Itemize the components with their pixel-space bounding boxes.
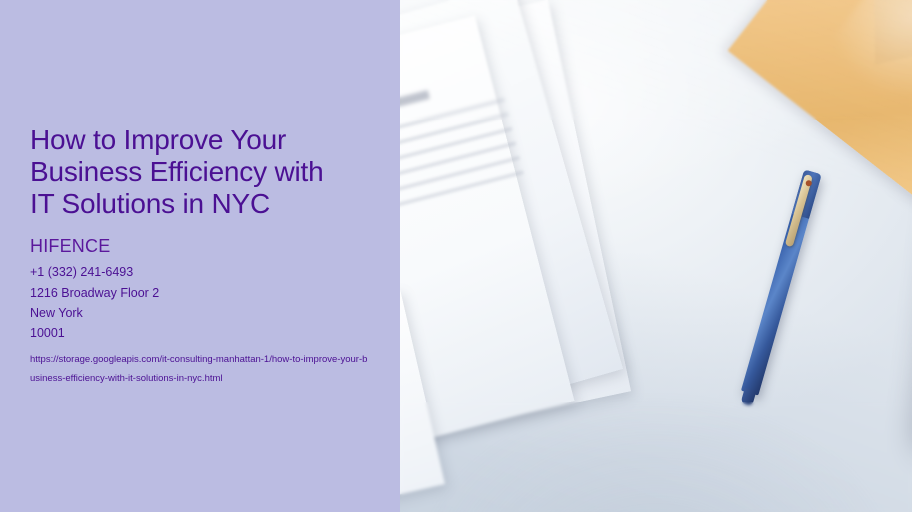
contact-phone[interactable]: +1 (332) 241-6493 bbox=[30, 262, 370, 282]
source-url-link[interactable]: https://storage.googleapis.com/it-consul… bbox=[30, 350, 370, 388]
page-title: How to Improve Your Business Efficiency … bbox=[30, 124, 350, 221]
blue-pen bbox=[741, 170, 822, 396]
pen-tip bbox=[741, 388, 757, 407]
contact-city: New York bbox=[30, 303, 370, 323]
text-panel: How to Improve Your Business Efficiency … bbox=[0, 0, 400, 512]
brand-name: HIFENCE bbox=[30, 236, 370, 257]
doc-line bbox=[400, 98, 505, 148]
article-preview-card: How to Improve Your Business Efficiency … bbox=[0, 0, 912, 512]
doc-line bbox=[400, 171, 524, 221]
contact-zip: 10001 bbox=[30, 323, 370, 343]
hero-photo: NSTRMENT 1 Ennaslostiorea 1 readors' sow… bbox=[400, 0, 912, 512]
envelope-crease bbox=[815, 0, 912, 147]
contact-address-line: 1216 Broadway Floor 2 bbox=[30, 283, 370, 303]
